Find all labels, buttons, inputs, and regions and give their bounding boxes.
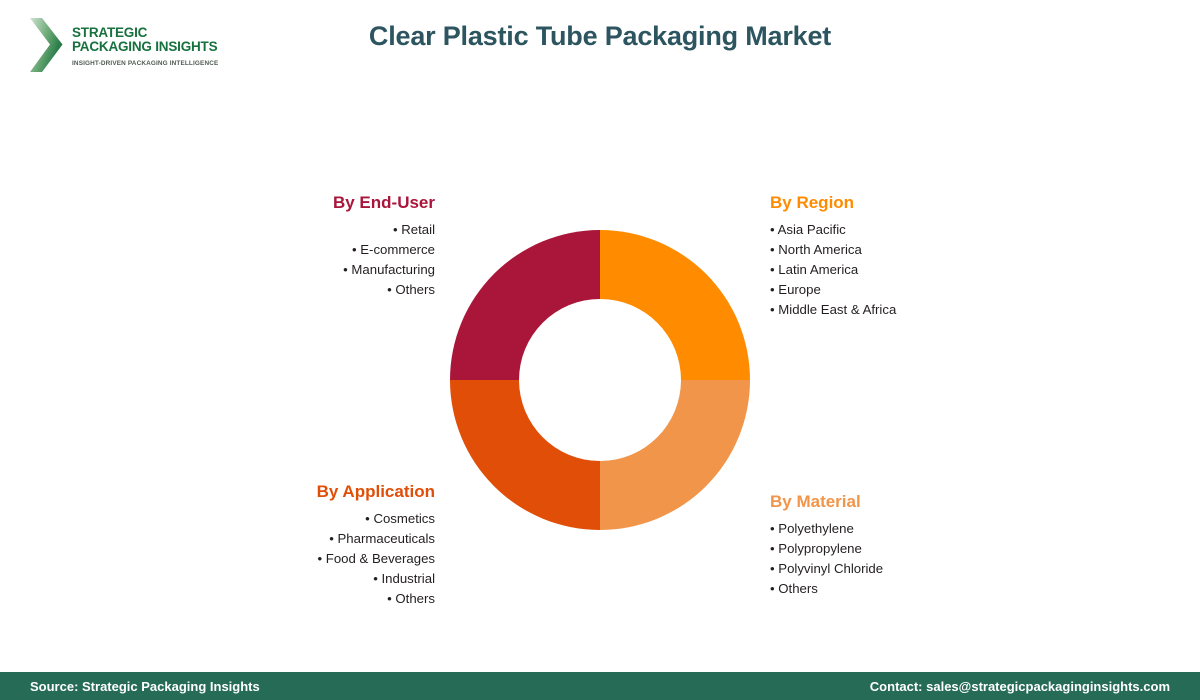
list-item-label: North America bbox=[778, 242, 862, 257]
footer-source: Source: Strategic Packaging Insights bbox=[30, 679, 260, 694]
list-item-label: E-commerce bbox=[360, 242, 435, 257]
list-item-label: Polypropylene bbox=[778, 541, 862, 556]
list-item: • Others bbox=[195, 280, 435, 300]
bullet-icon: • bbox=[329, 531, 337, 546]
bullet-icon: • bbox=[352, 242, 360, 257]
list-item: • E-commerce bbox=[195, 240, 435, 260]
segment-list-region: • Asia Pacific• North America• Latin Ame… bbox=[770, 220, 1030, 320]
brand-tagline: INSIGHT-DRIVEN PACKAGING INTELLIGENCE bbox=[72, 60, 218, 67]
list-item: • Pharmaceuticals bbox=[190, 529, 435, 549]
list-item-label: Retail bbox=[401, 222, 435, 237]
segment-title-region: By Region bbox=[770, 193, 1030, 213]
donut-chart-svg bbox=[450, 230, 750, 530]
segment-title-application: By Application bbox=[190, 482, 435, 502]
footer-contact: Contact: sales@strategicpackaginginsight… bbox=[870, 679, 1170, 694]
donut-chart bbox=[450, 230, 750, 530]
list-item: • Middle East & Africa bbox=[770, 300, 1030, 320]
list-item-label: Latin America bbox=[778, 262, 858, 277]
list-item-label: Asia Pacific bbox=[778, 222, 846, 237]
donut-hole bbox=[519, 299, 681, 461]
bullet-icon: • bbox=[317, 551, 325, 566]
segment-list-material: • Polyethylene• Polypropylene• Polyvinyl… bbox=[770, 519, 1030, 599]
list-item-label: Pharmaceuticals bbox=[338, 531, 435, 546]
list-item-label: Middle East & Africa bbox=[778, 302, 896, 317]
list-item: • Manufacturing bbox=[195, 260, 435, 280]
list-item-label: Cosmetics bbox=[373, 511, 435, 526]
bullet-icon: • bbox=[770, 222, 778, 237]
list-item: • Polyethylene bbox=[770, 519, 1030, 539]
list-item: • North America bbox=[770, 240, 1030, 260]
list-item: • Latin America bbox=[770, 260, 1030, 280]
list-item: • Polypropylene bbox=[770, 539, 1030, 559]
segment-title-material: By Material bbox=[770, 492, 1030, 512]
list-item: • Polyvinyl Chloride bbox=[770, 559, 1030, 579]
list-item: • Retail bbox=[195, 220, 435, 240]
segment-list-application: • Cosmetics• Pharmaceuticals• Food & Bev… bbox=[190, 509, 435, 609]
segment-block-region: By Region • Asia Pacific• North America•… bbox=[770, 193, 1030, 320]
list-item-label: Food & Beverages bbox=[326, 551, 435, 566]
segment-block-end-user: By End-User • Retail• E-commerce• Manufa… bbox=[195, 193, 435, 300]
list-item: • Food & Beverages bbox=[190, 549, 435, 569]
list-item: • Industrial bbox=[190, 569, 435, 589]
segment-title-end-user: By End-User bbox=[195, 193, 435, 213]
list-item: • Others bbox=[770, 579, 1030, 599]
list-item-label: Europe bbox=[778, 282, 821, 297]
list-item: • Others bbox=[190, 589, 435, 609]
list-item-label: Others bbox=[395, 282, 435, 297]
footer-bar: Source: Strategic Packaging Insights Con… bbox=[0, 672, 1200, 700]
infographic-page: STRATEGIC PACKAGING INSIGHTS INSIGHT-DRI… bbox=[0, 0, 1200, 700]
list-item-label: Polyethylene bbox=[778, 521, 854, 536]
page-title: Clear Plastic Tube Packaging Market bbox=[0, 21, 1200, 52]
list-item: • Europe bbox=[770, 280, 1030, 300]
list-item-label: Manufacturing bbox=[351, 262, 435, 277]
list-item-label: Others bbox=[395, 591, 435, 606]
segment-list-end-user: • Retail• E-commerce• Manufacturing• Oth… bbox=[195, 220, 435, 300]
list-item-label: Industrial bbox=[381, 571, 435, 586]
list-item: • Asia Pacific bbox=[770, 220, 1030, 240]
segment-block-application: By Application • Cosmetics• Pharmaceutic… bbox=[190, 482, 435, 609]
segment-block-material: By Material • Polyethylene• Polypropylen… bbox=[770, 492, 1030, 599]
list-item: • Cosmetics bbox=[190, 509, 435, 529]
list-item-label: Polyvinyl Chloride bbox=[778, 561, 883, 576]
list-item-label: Others bbox=[778, 581, 818, 596]
